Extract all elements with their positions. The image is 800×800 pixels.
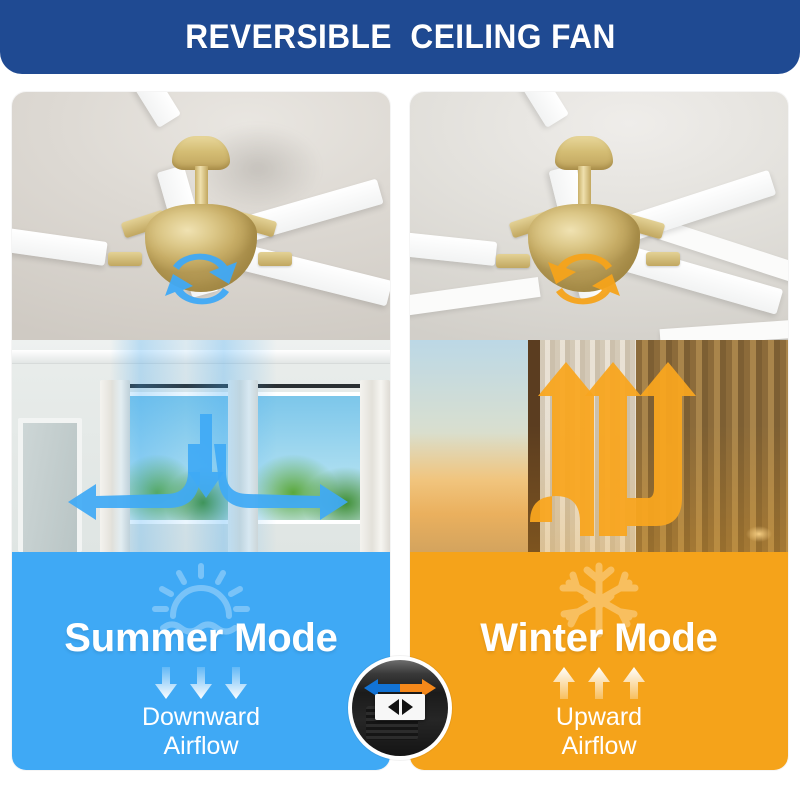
blade-mount <box>108 252 142 266</box>
triangle-right-icon <box>402 699 413 715</box>
winter-label-block: Winter Mode Upward Airflow <box>410 552 788 770</box>
panel-winter-mode: Winter Mode Upward Airflow <box>410 92 788 770</box>
winter-airflow-arrows <box>410 322 788 552</box>
fan-canopy <box>555 136 613 170</box>
blade-mount <box>258 252 292 266</box>
header-banner: REVERSIBLE CEILING FAN <box>0 0 800 74</box>
summer-airflow-line2: Airflow <box>163 732 238 760</box>
winter-mini-arrows <box>553 667 645 699</box>
fan-blade <box>618 245 783 315</box>
summer-mode-title: Summer Mode <box>64 616 337 661</box>
arrow-down-icon <box>225 667 247 699</box>
rotation-direction-arrow <box>536 242 632 316</box>
summer-airflow-text: Downward Airflow <box>142 703 260 761</box>
fan-blade <box>12 221 108 266</box>
summer-mini-arrows <box>155 667 247 699</box>
winter-photo <box>410 92 788 552</box>
arrow-down-icon <box>155 667 177 699</box>
winter-airflow-line2: Airflow <box>561 732 636 760</box>
panel-summer-mode: Summer Mode Downward Airflow <box>12 92 390 770</box>
fan-canopy <box>172 136 230 170</box>
switch-toggle-plate[interactable] <box>375 694 425 720</box>
fan-blade <box>410 226 497 266</box>
arrow-up-icon <box>588 667 610 699</box>
arrow-up-icon <box>623 667 645 699</box>
blade-mount <box>496 254 530 268</box>
summer-airflow-arrows <box>12 322 390 552</box>
summer-label-block: Summer Mode Downward Airflow <box>12 552 390 770</box>
fan-blade <box>94 92 181 128</box>
page-title: REVERSIBLE CEILING FAN <box>185 18 616 57</box>
winter-mode-title: Winter Mode <box>480 616 717 661</box>
triangle-left-icon <box>388 699 399 715</box>
arrow-up-icon <box>553 667 575 699</box>
blade-mount <box>646 252 680 266</box>
summer-airflow-line1: Downward <box>142 703 260 731</box>
rotation-direction-arrow <box>153 242 249 316</box>
winter-airflow-line1: Upward <box>556 703 642 731</box>
fan-blade <box>482 92 569 128</box>
arrow-down-icon <box>190 667 212 699</box>
summer-photo <box>12 92 390 552</box>
reverse-switch-inset <box>348 656 452 760</box>
reverse-switch-photo <box>352 660 448 756</box>
winter-airflow-text: Upward Airflow <box>556 703 642 761</box>
